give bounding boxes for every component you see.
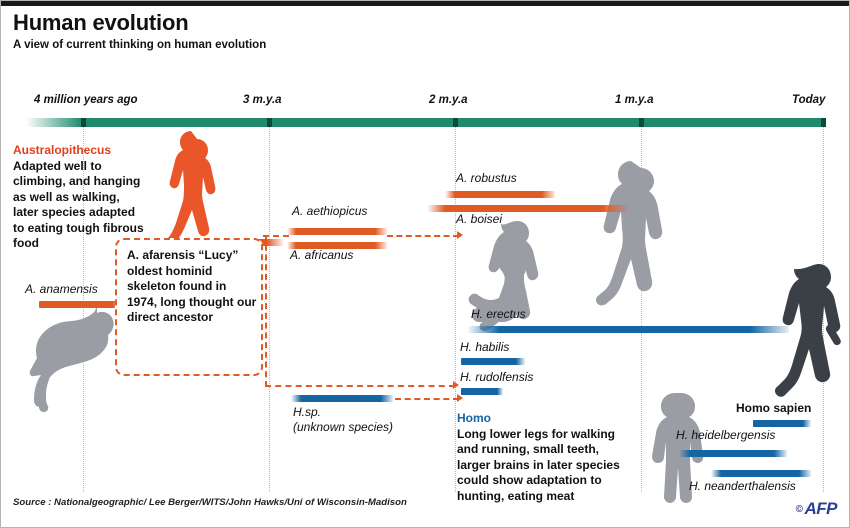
connector-arrow-homo	[457, 394, 463, 402]
connector-arrow-habilis	[453, 381, 459, 389]
homo-body: Long lower legs for walking and running,…	[457, 427, 620, 503]
connector-to-h-habilis	[265, 385, 455, 387]
bar-h-habilis	[461, 358, 525, 365]
page-title: Human evolution	[13, 10, 188, 36]
lucy-callout-heading: A. afarensis	[127, 248, 195, 262]
afp-logo: ©AFP	[796, 499, 837, 519]
silhouette-a-anamensis	[27, 301, 123, 413]
axis-label-today: Today	[792, 94, 825, 106]
infographic-canvas: Human evolution A view of current thinki…	[0, 0, 850, 528]
connector-arrow-boisei	[457, 231, 463, 239]
axis-label-2mya: 2 m.y.a	[429, 94, 468, 106]
copyright-icon: ©	[796, 504, 803, 515]
bar-h-erectus	[467, 326, 789, 333]
bar-homo-sapien	[753, 420, 811, 427]
species-label-h-heidelbergensis: H. heidelbergensis	[676, 428, 775, 442]
axis-label-1mya: 1 m.y.a	[615, 94, 654, 106]
species-label-h-sp-note: (unknown species)	[293, 420, 393, 434]
species-label-h-neanderthalensis: H. neanderthalensis	[689, 479, 796, 493]
connector-hsp-to-homo	[395, 398, 459, 400]
bar-a-aethiopicus	[287, 228, 387, 235]
bar-a-anamensis	[39, 301, 121, 308]
top-rule	[1, 1, 850, 6]
species-label-a-aethiopicus: A. aethiopicus	[292, 204, 367, 218]
axis-tick-today	[821, 118, 826, 127]
homo-heading: Homo	[457, 411, 635, 427]
axis-label-3mya: 3 m.y.a	[243, 94, 282, 106]
lucy-callout-text: A. afarensis “Lucy” oldest hominid skele…	[127, 248, 259, 326]
species-label-a-africanus: A. africanus	[290, 248, 353, 262]
australopithecus-body: Adapted well to climbing, and hanging as…	[13, 159, 144, 251]
axis-tick-4mya	[81, 118, 86, 127]
species-label-h-habilis: H. habilis	[460, 340, 509, 354]
bar-a-boisei	[427, 205, 627, 212]
page-subtitle: A view of current thinking on human evol…	[13, 39, 266, 51]
axis-tick-3mya	[267, 118, 272, 127]
bar-h-heidelbergensis	[679, 450, 787, 457]
species-label-a-boisei: A. boisei	[456, 212, 502, 226]
silhouette-homo-sapien	[783, 263, 847, 401]
species-label-h-sp: H.sp.	[293, 405, 321, 419]
connector-vertical-lucy-branch	[265, 235, 267, 387]
species-label-h-erectus: H. erectus	[471, 307, 526, 321]
homo-block: Homo Long lower legs for walking and run…	[457, 411, 635, 504]
species-label-a-anamensis: A. anamensis	[25, 282, 98, 296]
species-label-a-robustus: A. robustus	[456, 171, 517, 185]
gridline-3mya	[269, 127, 270, 492]
bar-h-neanderthalensis	[711, 470, 811, 477]
bar-h-sp-unknown	[291, 395, 393, 402]
bar-a-robustus	[445, 191, 555, 198]
species-label-h-rudolfensis: H. rudolfensis	[460, 370, 533, 384]
axis-label-4mya: 4 million years ago	[34, 94, 138, 106]
afp-wordmark: AFP	[805, 499, 838, 518]
bar-h-rudolfensis	[461, 388, 503, 395]
source-note: Source : Nationalgeographic/ Lee Berger/…	[13, 497, 407, 508]
axis-tick-1mya	[639, 118, 644, 127]
connector-africanus-to-boisei	[387, 235, 459, 237]
australopithecus-block: Australopithecus Adapted well to climbin…	[13, 143, 148, 252]
species-label-homo-sapien: Homo sapien	[736, 401, 811, 415]
australopithecus-heading: Australopithecus	[13, 143, 148, 159]
silhouette-h-erectus	[467, 221, 551, 317]
silhouette-hominid-upright	[597, 167, 671, 297]
silhouette-a-afarensis	[153, 137, 231, 245]
timeline-axis	[26, 118, 826, 127]
axis-tick-2mya	[453, 118, 458, 127]
